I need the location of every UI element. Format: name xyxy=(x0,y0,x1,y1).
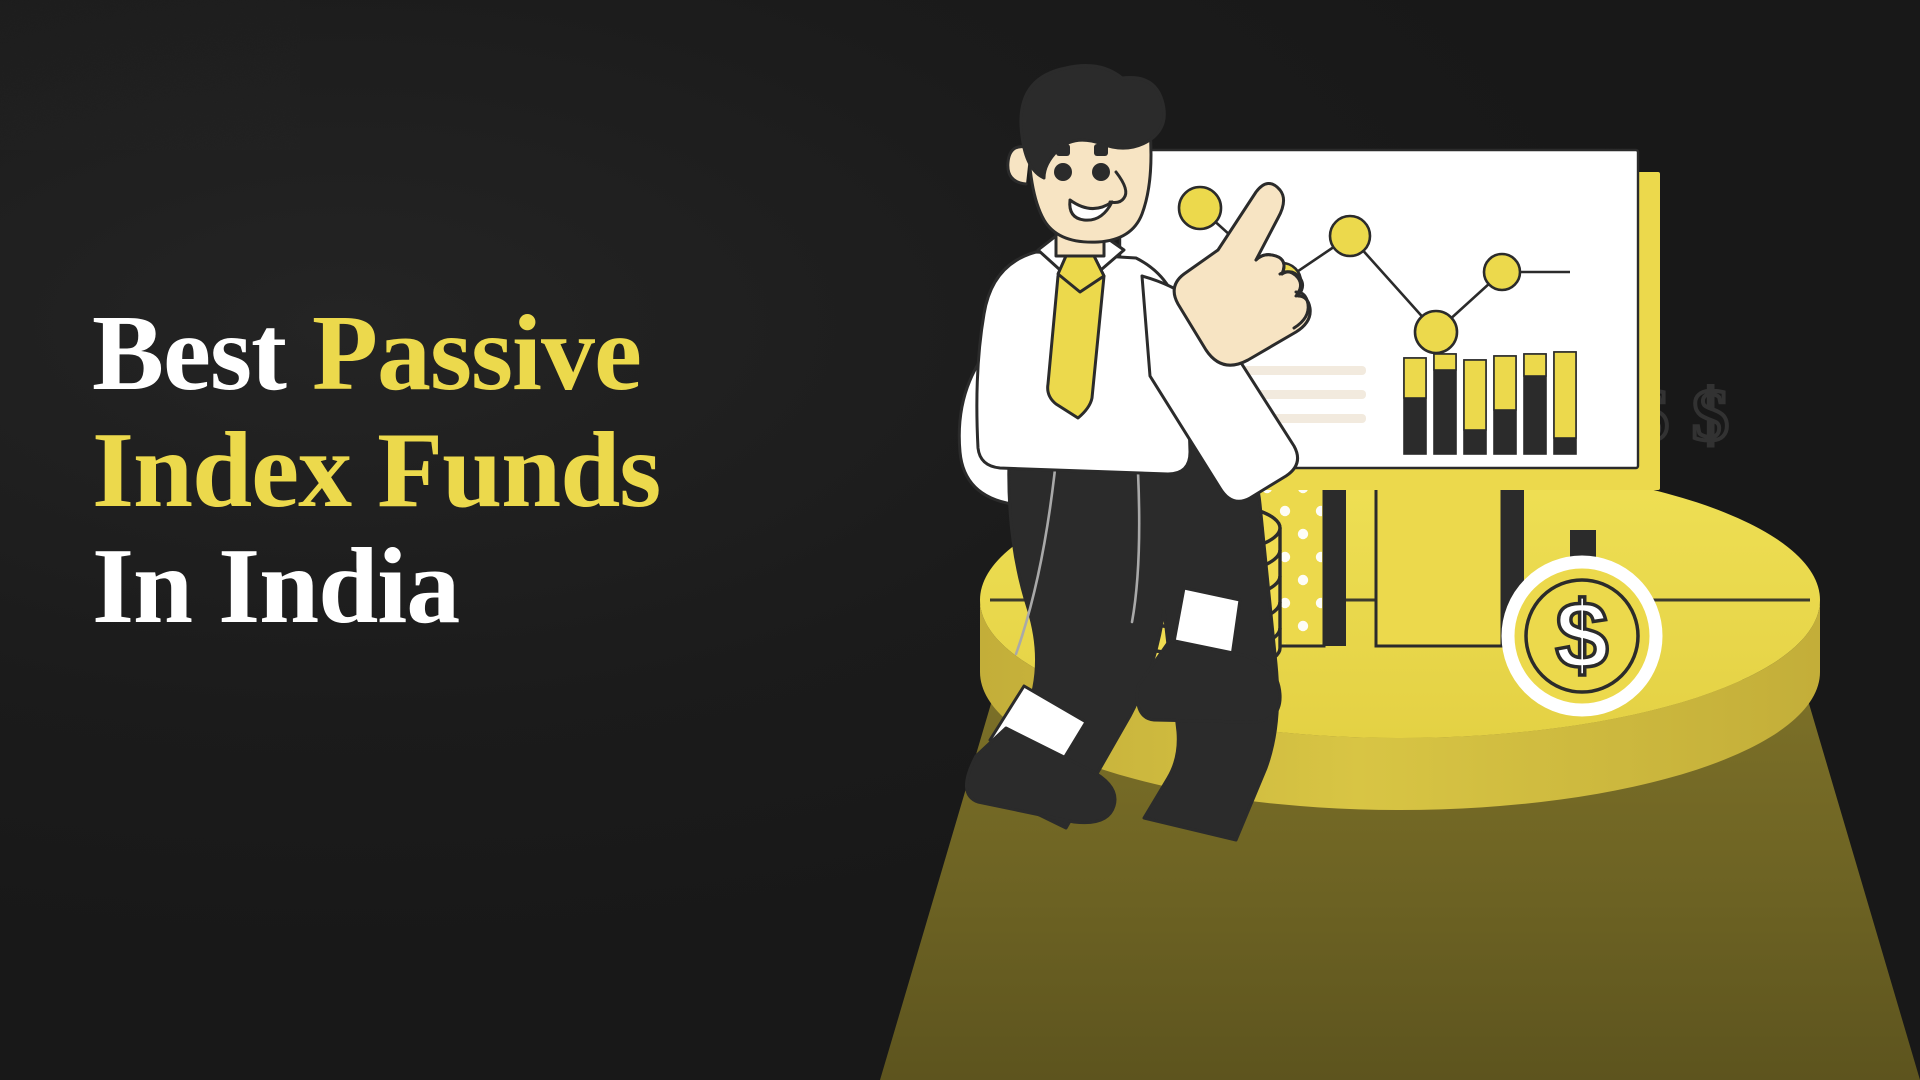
eyebrow-left xyxy=(1056,144,1070,156)
headline-line-2: Index Funds xyxy=(92,413,660,530)
illustration-businessman-chart: $ $ $ $ xyxy=(880,40,1920,1080)
line-chart-point-4 xyxy=(1415,311,1457,353)
mini-bar-4 xyxy=(1494,356,1516,454)
headline-word-best: Best xyxy=(92,294,286,413)
dollar-decor-icon-3: $ xyxy=(1692,375,1729,457)
line-chart-point-3 xyxy=(1330,216,1370,256)
mini-bar-1 xyxy=(1404,358,1426,454)
eye-left xyxy=(1054,163,1072,181)
eye-right xyxy=(1092,163,1110,181)
headline-line-1: Best Passive xyxy=(92,296,660,413)
headline-line-3: In India xyxy=(92,529,660,646)
mini-bar-6 xyxy=(1554,352,1576,454)
headline-word-in-india: In India xyxy=(92,527,459,646)
mini-bar-5 xyxy=(1524,354,1546,454)
line-chart-point-5 xyxy=(1484,254,1520,290)
headline-word-passive: Passive xyxy=(312,294,641,413)
page-title: Best Passive Index Funds In India xyxy=(92,296,660,646)
dollar-coin-icon: $ xyxy=(1555,582,1608,689)
eyebrow-right xyxy=(1094,144,1108,156)
mini-bar-3 xyxy=(1464,360,1486,454)
mini-bar-2 xyxy=(1434,354,1456,454)
line-chart-point-1 xyxy=(1179,187,1221,229)
poster-canvas: Best Passive Index Funds In India xyxy=(0,0,1920,1080)
headline-word-index-funds: Index Funds xyxy=(92,411,660,530)
